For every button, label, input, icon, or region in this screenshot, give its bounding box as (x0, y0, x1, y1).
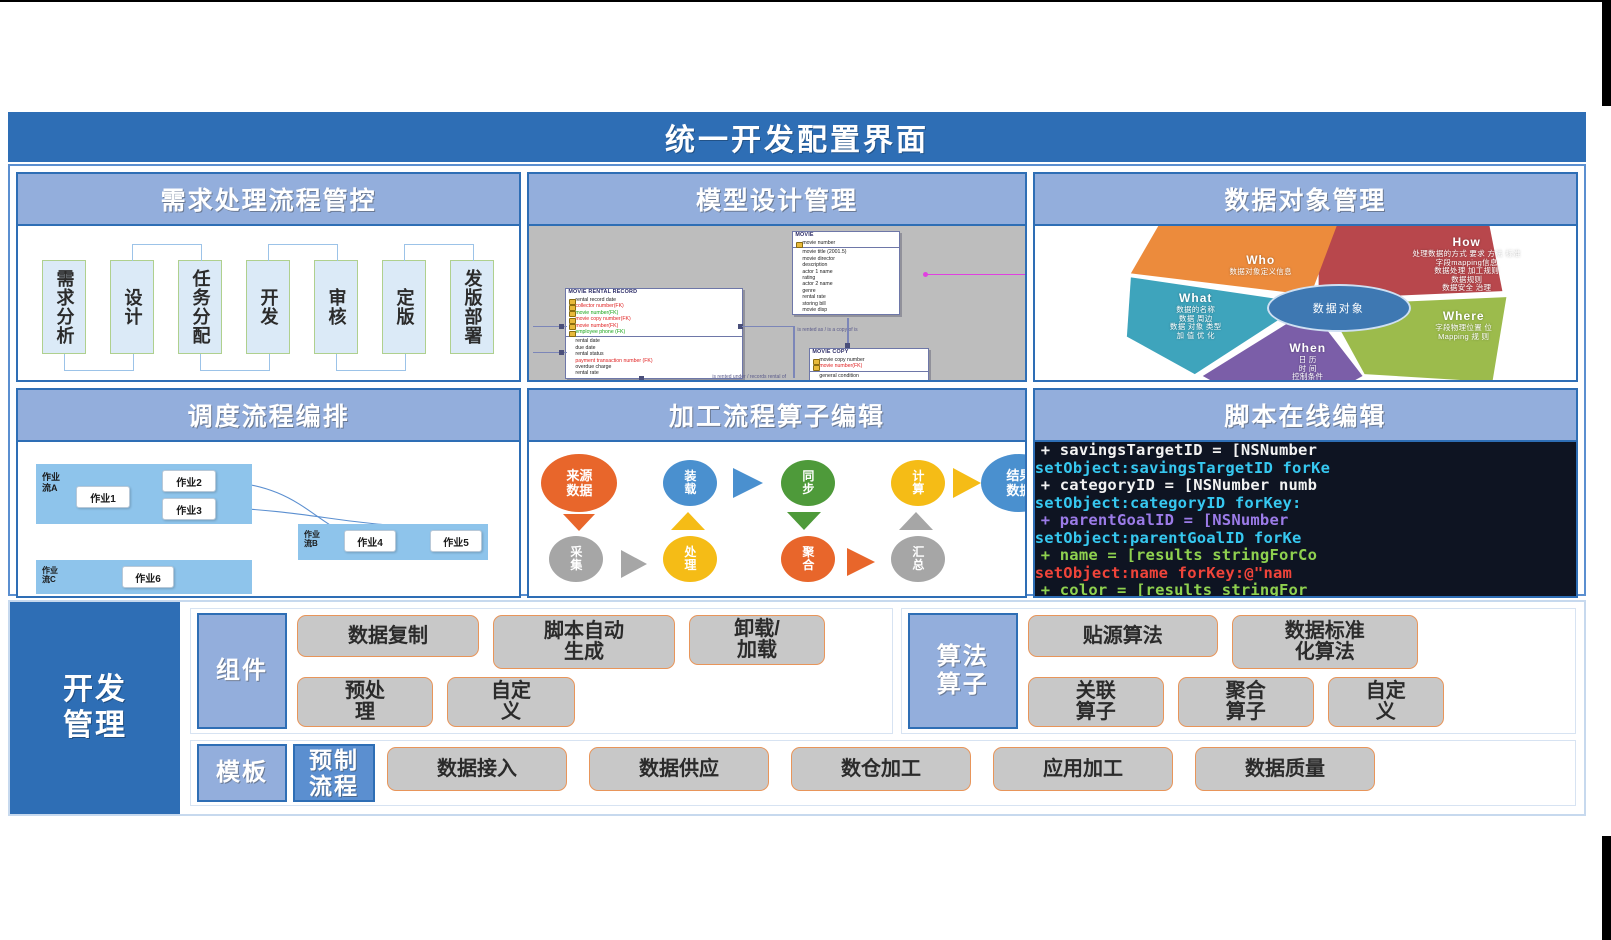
flow-step-box[interactable]: 开发 (246, 260, 290, 354)
er-endpoint (845, 343, 850, 348)
er-key-block: rental record date collector number(FK) … (566, 296, 742, 337)
er-key-block: movie number (793, 239, 899, 248)
flow-step-label: 任务分配 (191, 269, 210, 345)
chip-data-replication[interactable]: 数据复制 (297, 615, 479, 657)
arrow-down-icon (563, 514, 595, 531)
flow-connector (404, 244, 474, 261)
template-chip-list: 数据接入 数据供应 数仓加工 应用加工 数据质量 (375, 741, 1575, 805)
er-key-block: movie copy number movie number(FK) (810, 356, 928, 372)
job-node[interactable]: 作业4 (344, 530, 396, 552)
panel-title-requirement: 需求处理流程管控 (161, 181, 377, 217)
panel-row-top: 需求处理流程管控 需求分析 设计 任务分配 开发 审核 定版 发版部署 (16, 172, 1578, 382)
flow-connector (132, 244, 202, 261)
panel-model-design[interactable]: 模型设计管理 MOVIE movie number movie title (2… (527, 172, 1026, 382)
flow-step-label: 需求分析 (55, 269, 74, 345)
operator-node-load[interactable]: 装 载 (663, 460, 717, 506)
chip-data-ingest[interactable]: 数据接入 (387, 747, 567, 791)
er-connector (793, 326, 794, 378)
panel-body: 需求分析 设计 任务分配 开发 审核 定版 发版部署 (18, 226, 519, 380)
category-templates[interactable]: 模板 (197, 744, 287, 802)
panel-header: 调度流程编排 (18, 390, 519, 442)
code-line: setObject:name forKey:@"nam (1035, 565, 1576, 583)
er-attr-block: general condition (810, 372, 928, 380)
er-endpoint-highlight (923, 272, 928, 277)
chip-warehouse-process[interactable]: 数仓加工 (791, 747, 971, 791)
panel-title-data-object: 数据对象管理 (1224, 181, 1386, 217)
flow-step-label: 审核 (327, 288, 346, 326)
code-line: + name = [results stringForCo (1035, 547, 1576, 565)
code-line: setObject:savingsTargetID forKe (1035, 460, 1576, 478)
er-entity-movie[interactable]: MOVIE movie number movie title (2001.5) … (792, 231, 900, 315)
page-title-bar: 统一开发配置界面 (8, 112, 1586, 162)
operator-node-process[interactable]: 处 理 (663, 536, 717, 582)
subcategory-preset-flow[interactable]: 预制 流程 (293, 744, 375, 802)
operator-node-aggregate[interactable]: 聚 合 (781, 536, 835, 582)
category-components[interactable]: 组件 (197, 613, 287, 729)
er-field: general condition (812, 373, 926, 379)
chip-data-supply[interactable]: 数据供应 (589, 747, 769, 791)
code-line: + parentGoalID = [NSNumber (1035, 512, 1576, 530)
pie-label-en: When (1248, 342, 1368, 355)
code-editor-area[interactable]: + savingsTargetID = [NSNumber setObject:… (1035, 442, 1576, 596)
er-field: movie disp (795, 307, 897, 313)
er-connector-highlight (927, 274, 1024, 275)
algorithm-chip-list: 贴源算法 数据标准 化算法 关联 算子 聚合 算子 自定 义 (1018, 609, 1575, 733)
flow-step-label: 发版部署 (463, 269, 482, 345)
panel-header: 模型设计管理 (529, 174, 1024, 226)
job-node[interactable]: 作业5 (430, 530, 482, 552)
panel-header: 数据对象管理 (1035, 174, 1576, 226)
er-connector (742, 326, 794, 327)
er-attr-block: movie title (2001.5) movie director desc… (793, 248, 899, 314)
flow-step-box[interactable]: 设计 (110, 260, 154, 354)
panel-header: 加工流程算子编辑 (529, 390, 1024, 442)
arrow-up-icon (899, 512, 933, 530)
er-entity-name: MOVIE RENTAL RECORD (566, 289, 742, 296)
diagram-frame: 统一开发配置界面 需求处理流程管控 需求分析 设计 任务分配 开发 审核 (8, 112, 1594, 818)
er-endpoint (559, 324, 564, 329)
panel-requirement-process[interactable]: 需求处理流程管控 需求分析 设计 任务分配 开发 审核 定版 发版部署 (16, 172, 521, 382)
flow-step-box[interactable]: 审核 (314, 260, 358, 354)
category-label: 模板 (216, 759, 268, 787)
panel-title-operator: 加工流程算子编辑 (669, 397, 885, 433)
flow-connector (336, 354, 406, 371)
er-entity-movie-rental-record[interactable]: MOVIE RENTAL RECORD rental record date c… (565, 288, 743, 379)
panel-body: MOVIE movie number movie title (2001.5) … (529, 226, 1024, 380)
er-entity-name: MOVIE COPY (810, 349, 928, 356)
pie-label-who: Who 数据对象定义信息 (1181, 254, 1341, 277)
panel-operator-edit[interactable]: 加工流程算子编辑 来源 数据 装 载 同 步 计 算 结果 数据 采 集 处 理… (527, 388, 1026, 598)
category-algorithm-operators[interactable]: 算法 算子 (908, 613, 1018, 729)
flow-step-box[interactable]: 任务分配 (178, 260, 222, 354)
job-node[interactable]: 作业6 (122, 566, 174, 588)
er-field: movie number(FK) (812, 363, 926, 369)
code-line: + savingsTargetID = [NSNumber (1035, 442, 1576, 460)
right-edge-bleed-top (1602, 0, 1611, 106)
subcategory-label: 预制 流程 (309, 747, 359, 799)
code-line: + color = [results stringFor (1035, 582, 1576, 596)
component-chip-list: 数据复制 脚本自动 生成 卸载/ 加载 预处 理 自定 义 (287, 609, 892, 733)
code-line: + categoryID = [NSNumber numb (1035, 477, 1576, 495)
arrow-up-icon (671, 512, 705, 530)
job-group-label: 作业 流B (304, 530, 330, 548)
job-group-a[interactable]: 作业 流A (36, 464, 252, 524)
flow-connector (268, 244, 338, 261)
chip-join-operator[interactable]: 关联 算子 (1028, 677, 1164, 727)
flow-step-label: 设计 (123, 288, 142, 326)
chip-unload-load[interactable]: 卸载/ 加载 (689, 615, 825, 665)
development-row-templates: 模板 预制 流程 数据接入 数据供应 数仓加工 应用加工 数据质量 (190, 740, 1576, 806)
job-node[interactable]: 作业2 (162, 470, 216, 492)
arrow-right-icon (733, 468, 763, 498)
pie-center-hub[interactable]: 数据对象 (1267, 284, 1411, 332)
flow-step-box[interactable]: 需求分析 (42, 260, 86, 354)
chip-custom[interactable]: 自定 义 (447, 677, 575, 727)
chip-source-algorithm[interactable]: 贴源算法 (1028, 615, 1218, 657)
er-relationship-label: is rented under / records rental of (712, 374, 786, 380)
panel-body: 来源 数据 装 载 同 步 计 算 结果 数据 采 集 处 理 聚 合 汇 总 (529, 442, 1024, 596)
pie-label-where: Where 字段物理位置 位 Mapping 规 则 (1399, 310, 1529, 341)
panel-body: 作业 流A 作业1 作业2 作业3 作业 流B 作业4 作业5 作业 流C (18, 442, 519, 596)
er-field: employee phone (FK) (568, 329, 740, 335)
code-line: setObject:parentGoalID forKe (1035, 530, 1576, 548)
flow-connector (64, 354, 134, 371)
flow-connector (200, 354, 270, 371)
arrow-right-icon (847, 548, 875, 576)
panel-row-bottom: 调度流程编排 (16, 388, 1578, 598)
operator-node-source[interactable]: 来源 数据 (541, 454, 617, 512)
operator-node-result[interactable]: 结果 数据 (981, 454, 1024, 512)
panel-header: 脚本在线编辑 (1035, 390, 1576, 442)
chip-custom-operator[interactable]: 自定 义 (1328, 677, 1444, 727)
job-group-label: 作业 流A (42, 472, 68, 494)
er-field: movie number (795, 240, 897, 246)
component-group-pane: 组件 数据复制 脚本自动 生成 卸载/ 加载 预处 理 自定 义 (190, 608, 893, 734)
operator-node-summary[interactable]: 汇 总 (891, 536, 945, 582)
panel-data-object[interactable]: 数据对象管理 (1033, 172, 1578, 382)
er-relationship-label: is rented as / is a copy of is (797, 327, 857, 333)
flow-step-box[interactable]: 定版 (382, 260, 426, 354)
pie-label-cn: 处理数据的方式 要求 方法 标准 字段mapping信息 数据处理 加工规则 数… (1387, 250, 1547, 292)
panel-scheduling[interactable]: 调度流程编排 (16, 388, 521, 598)
flow-step-box[interactable]: 发版部署 (450, 260, 494, 354)
pie-label-en: How (1387, 236, 1547, 249)
chip-preprocess[interactable]: 预处 理 (297, 677, 433, 727)
category-label: 组件 (216, 657, 268, 685)
right-edge-bleed-bottom (1602, 836, 1611, 940)
operator-node-compute[interactable]: 计 算 (891, 460, 945, 506)
development-management-section: 开发 管理 组件 数据复制 脚本自动 生成 卸载/ 加载 预处 理 自定 义 (8, 600, 1586, 816)
er-endpoint (559, 350, 564, 355)
pie-label-how: How 处理数据的方式 要求 方法 标准 字段mapping信息 数据处理 加工… (1387, 236, 1547, 292)
requirement-flow-diagram: 需求分析 设计 任务分配 开发 审核 定版 发版部署 (18, 226, 519, 380)
flow-step-label: 定版 (395, 288, 414, 326)
pie-label-en: Where (1399, 310, 1529, 323)
pie-label-cn: 数据的名称 数据 周边 数据 对象 类型 加 值 优 化 (1131, 306, 1261, 340)
pie-label-cn: 数据对象定义信息 (1181, 268, 1341, 276)
category-label: 算法 算子 (937, 643, 989, 699)
job-node[interactable]: 作业1 (76, 486, 130, 508)
panel-script-editor[interactable]: 脚本在线编辑 + savingsTargetID = [NSNumber set… (1033, 388, 1578, 598)
code-line: setObject:categoryID forKey: (1035, 495, 1576, 513)
job-flow-canvas[interactable]: 作业 流A 作业1 作业2 作业3 作业 流B 作业4 作业5 作业 流C (18, 442, 519, 596)
arrow-right-icon (621, 550, 647, 578)
pie-center-label: 数据对象 (1313, 300, 1365, 316)
er-diagram-canvas[interactable]: MOVIE movie number movie title (2001.5) … (529, 226, 1024, 380)
panel-body: How 处理数据的方式 要求 方法 标准 字段mapping信息 数据处理 加工… (1035, 226, 1576, 380)
arrow-down-icon (787, 512, 821, 530)
flow-step-label: 开发 (259, 288, 278, 326)
chip-script-autogen[interactable]: 脚本自动 生成 (493, 615, 675, 669)
panel-body: + savingsTargetID = [NSNumber setObject:… (1035, 442, 1576, 596)
pie-label-when: When 日 历 时 间 控制条件 (1248, 342, 1368, 380)
pie-label-cn: 字段物理位置 位 Mapping 规 则 (1399, 324, 1529, 341)
five-w-pie-diagram[interactable]: How 处理数据的方式 要求 方法 标准 字段mapping信息 数据处理 加工… (1035, 226, 1576, 380)
panel-header: 需求处理流程管控 (18, 174, 519, 226)
development-row-components: 组件 数据复制 脚本自动 生成 卸载/ 加载 预处 理 自定 义 算法 算子 (190, 608, 1576, 734)
operator-node-sync[interactable]: 同 步 (781, 460, 835, 506)
pie-label-en: What (1131, 292, 1261, 305)
er-entity-movie-copy[interactable]: MOVIE COPY movie copy number movie numbe… (809, 348, 929, 380)
er-entity-name: MOVIE (793, 232, 899, 239)
er-endpoint (639, 376, 644, 380)
pie-label-en: Who (1181, 254, 1341, 267)
pie-label-cn: 日 历 时 间 控制条件 (1248, 356, 1368, 380)
panel-title-script: 脚本在线编辑 (1224, 397, 1386, 433)
chip-data-quality[interactable]: 数据质量 (1195, 747, 1375, 791)
chip-application-process[interactable]: 应用加工 (993, 747, 1173, 791)
job-node[interactable]: 作业3 (162, 498, 216, 520)
er-attr-block: rental date due date rental status payme… (566, 337, 742, 377)
algorithm-group-pane: 算法 算子 贴源算法 数据标准 化算法 关联 算子 聚合 算子 自定 义 (901, 608, 1576, 734)
development-management-label: 开发 管理 (10, 602, 180, 814)
job-group-label: 作业 流C (42, 566, 68, 584)
dev-side-text: 开发 管理 (63, 672, 127, 744)
panels-container: 需求处理流程管控 需求分析 设计 任务分配 开发 审核 定版 发版部署 (8, 164, 1586, 596)
panel-title-scheduling: 调度流程编排 (188, 397, 350, 433)
chip-aggregate-operator[interactable]: 聚合 算子 (1178, 677, 1314, 727)
operator-node-collect[interactable]: 采 集 (549, 536, 603, 582)
arrow-right-icon (953, 468, 981, 498)
development-groups: 组件 数据复制 脚本自动 生成 卸载/ 加载 预处 理 自定 义 算法 算子 (180, 602, 1584, 814)
page-title: 统一开发配置界面 (665, 115, 929, 159)
pie-label-what: What 数据的名称 数据 周边 数据 对象 类型 加 值 优 化 (1131, 292, 1261, 340)
bottom-rule (0, 0, 1611, 2)
template-group-pane: 模板 预制 流程 数据接入 数据供应 数仓加工 应用加工 数据质量 (190, 740, 1576, 806)
operator-flow-canvas[interactable]: 来源 数据 装 载 同 步 计 算 结果 数据 采 集 处 理 聚 合 汇 总 (529, 442, 1024, 596)
panel-title-model-design: 模型设计管理 (696, 181, 858, 217)
chip-standardization-algorithm[interactable]: 数据标准 化算法 (1232, 615, 1418, 669)
